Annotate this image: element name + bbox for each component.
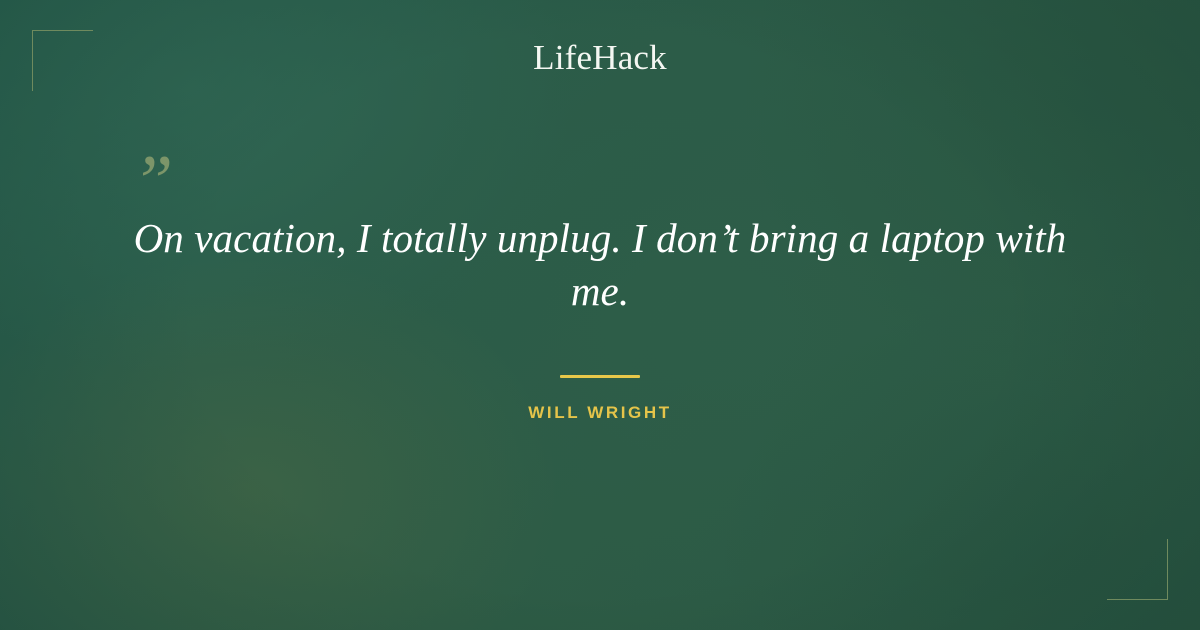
quote-block: ” On vacation, I totally unplug. I don’t…	[0, 160, 1200, 423]
quotation-mark-icon: ”	[132, 160, 1090, 212]
brand-name: LifeHack	[533, 40, 667, 75]
brand-logo: LifeHack	[0, 40, 1200, 75]
gold-divider	[560, 375, 640, 378]
quote-text: On vacation, I totally unplug. I don’t b…	[110, 212, 1090, 319]
quote-author: WILL WRIGHT	[110, 403, 1090, 423]
quote-card: LifeHack ” On vacation, I totally unplug…	[0, 0, 1200, 630]
